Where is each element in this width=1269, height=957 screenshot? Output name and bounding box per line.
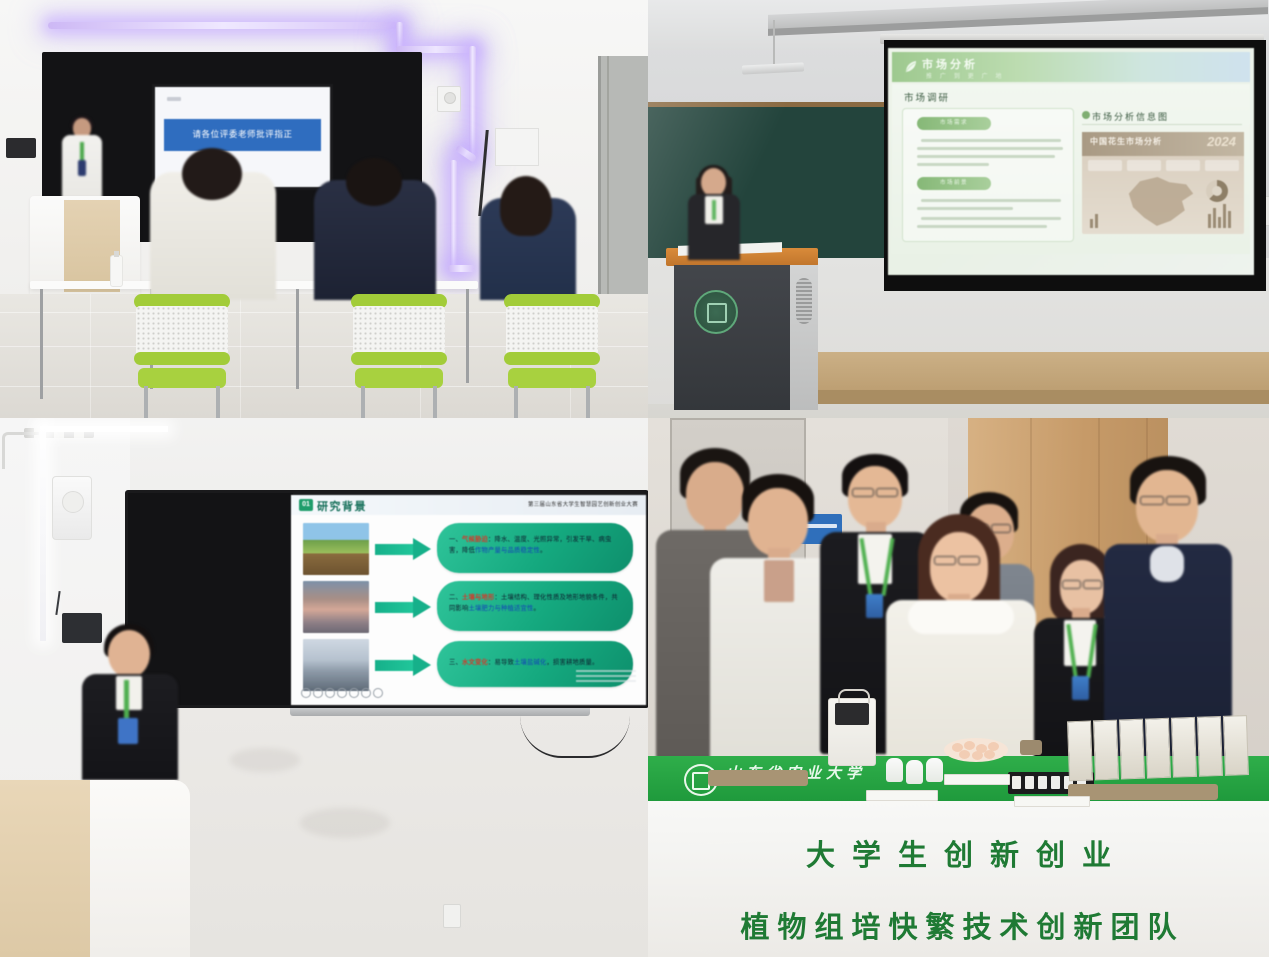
bullet-keyword: 土壤与地形 [462, 594, 494, 601]
slide-banner-text: 请各位评委老师批评指正 [164, 119, 321, 151]
reception-counter [0, 780, 190, 957]
display-mount-bar [290, 708, 590, 716]
sample-row [708, 770, 808, 786]
fur-collar [908, 600, 1014, 634]
wall-speaker-icon [437, 86, 461, 112]
slide-decoration [167, 97, 181, 101]
arrow-icon [375, 596, 431, 618]
presenter-person [688, 168, 740, 260]
bullet-highlight: 作物产量与品质稳定性 [475, 547, 540, 554]
bullet-index: 二、 [449, 594, 462, 601]
led-accent-strip [40, 426, 168, 432]
bullet-keyword: 水文变化 [462, 659, 488, 666]
bullet-tail: 。 [533, 605, 540, 612]
wall-monitor [6, 138, 36, 158]
infographic-year: 2024 [1207, 134, 1236, 149]
slide-body: 市场调研 市场需求 市场前景 市场分析信息图 [892, 84, 1250, 254]
infographic-title: 中国花生市场分析 [1090, 136, 1162, 147]
slide-left-card: 市场需求 市场前景 [902, 108, 1074, 242]
speaker-grill-icon [796, 278, 812, 324]
chair [347, 294, 451, 412]
infographic: 中国花生市场分析 2024 [1082, 132, 1244, 234]
slide-photo-water [303, 639, 369, 691]
panel-bottom-right-team-photo: 山东省农业大学 大学生创新创业 植物组培快繁技术创新团队 [648, 418, 1269, 957]
light-switch [443, 904, 461, 928]
arrow-icon [375, 654, 431, 676]
desk-leg [40, 289, 43, 399]
china-map-graphic [1126, 176, 1196, 228]
bullet-highlight: 土壤盐碱化 [514, 659, 546, 666]
table-cloth-line-2: 植物组培快繁技术创新团队 [648, 904, 1269, 946]
bullet-index: 一、 [449, 536, 462, 543]
bullet-marker-icon [1082, 111, 1090, 119]
audience-person [480, 198, 576, 300]
slide-photo-soil [303, 581, 369, 633]
divider [1082, 124, 1242, 125]
pill-badge-label: 市场需求 [917, 117, 991, 130]
slide-banner: 请各位评委老师批评指正 [164, 119, 321, 151]
photo-collage: 请各位评委老师批评指正 [0, 0, 1269, 957]
presenter-person [62, 118, 102, 200]
audience-person [314, 180, 436, 300]
chair [500, 294, 604, 412]
sample-box [1020, 740, 1042, 755]
led-accent-strip [469, 46, 476, 156]
bullet-tail: ，损害耕地质量。 [546, 659, 598, 666]
panel-top-right-lecture-hall: 市场分析 推 广 到 更 广 地 市场调研 市场需求 市场前景 [648, 0, 1269, 418]
projected-slide: 市场分析 推 广 到 更 广 地 市场调研 市场需求 市场前景 [888, 48, 1254, 275]
podium [30, 196, 140, 294]
display-device [828, 698, 876, 766]
slide-header-title: 市场分析 [922, 56, 978, 72]
bullet-tail: 。 [540, 547, 547, 554]
lanyard [712, 200, 716, 220]
culture-sample [926, 758, 943, 782]
audience-person [150, 172, 276, 300]
slide-header-band: 市场分析 推 广 到 更 广 地 [892, 52, 1250, 82]
university-emblem-icon [694, 290, 738, 334]
slide-section-title: 市场调研 [904, 90, 950, 104]
panel-top-left-seminar-room: 请各位评委老师批评指正 [0, 0, 648, 418]
brochure-stack [1067, 715, 1259, 784]
table-cloth-line-1: 大学生创新创业 [648, 832, 1269, 874]
slide-photo-climate [303, 523, 369, 575]
culture-sample [906, 760, 923, 784]
bullet-highlight: 土壤肥力与种植适宜性 [469, 605, 534, 612]
slide-section-title: 研究背景 [317, 498, 367, 514]
leaf-icon [905, 60, 917, 73]
led-accent-strip [448, 265, 474, 272]
presenter-person [82, 630, 178, 780]
slide-bullet-capsule: 一、气候胁迫：降水、温度、光照异常，引发干旱、病虫害，降低作物产量与品质稳定性。 [437, 523, 633, 573]
sample-plate [944, 738, 1008, 762]
lamp-rod [773, 20, 775, 68]
ceiling-lamp [742, 62, 804, 74]
led-accent-strip [48, 22, 398, 29]
sample-label [866, 790, 938, 801]
slide-section-number: 01 [299, 499, 313, 511]
wall-whiteboard [495, 128, 539, 166]
bullet-text: ：易导致 [488, 659, 514, 666]
slide-header-subtitle: 推 广 到 更 广 地 [926, 71, 1005, 80]
desk-leg [296, 289, 299, 389]
desk-leg [466, 289, 469, 383]
led-accent-strip [40, 426, 46, 641]
slide-toolbar [301, 687, 385, 698]
bullet-index: 三、 [449, 659, 462, 666]
led-accent-strip [450, 160, 457, 270]
lanyard [124, 680, 129, 718]
id-badge [866, 594, 883, 618]
culture-sample [886, 758, 903, 782]
wall-cutout [2, 432, 39, 469]
door [598, 56, 648, 306]
id-badge [1072, 676, 1089, 700]
arrow-icon [375, 538, 431, 560]
id-badge [118, 718, 138, 744]
chair [130, 294, 234, 412]
slide-header-band: 01 研究背景 第三届山东省大学生智慧园艺创新创业大赛 [291, 495, 646, 515]
slide-bullet-capsule: 二、土壤与地形：土壤结构、理化性质及地形地貌条件，共同影响土壤肥力与种植适宜性。 [437, 581, 633, 631]
sample-row [1068, 784, 1218, 800]
slide-event-header: 第三届山东省大学生智慧园艺创新创业大赛 [528, 500, 638, 508]
slide-watermark [576, 670, 636, 682]
sample-label [944, 774, 1010, 785]
wall-speaker-icon [52, 476, 92, 540]
projected-slide: 01 研究背景 第三届山东省大学生智慧园艺创新创业大赛 一、气候胁迫：降水、温度… [291, 495, 646, 705]
panel-bottom-left-smart-classroom: 01 研究背景 第三届山东省大学生智慧园艺创新创业大赛 一、气候胁迫：降水、温度… [0, 418, 648, 957]
donut-chart [1206, 180, 1228, 202]
display-cable [520, 716, 630, 758]
chalkboard-glare [648, 102, 888, 262]
pill-badge-label: 市场前景 [917, 177, 991, 190]
sample-label [1014, 796, 1090, 807]
lectern [666, 248, 818, 410]
slide-right-title: 市场分析信息图 [1092, 110, 1169, 123]
bullet-keyword: 气候胁迫 [462, 536, 488, 543]
water-bottle [110, 255, 123, 287]
